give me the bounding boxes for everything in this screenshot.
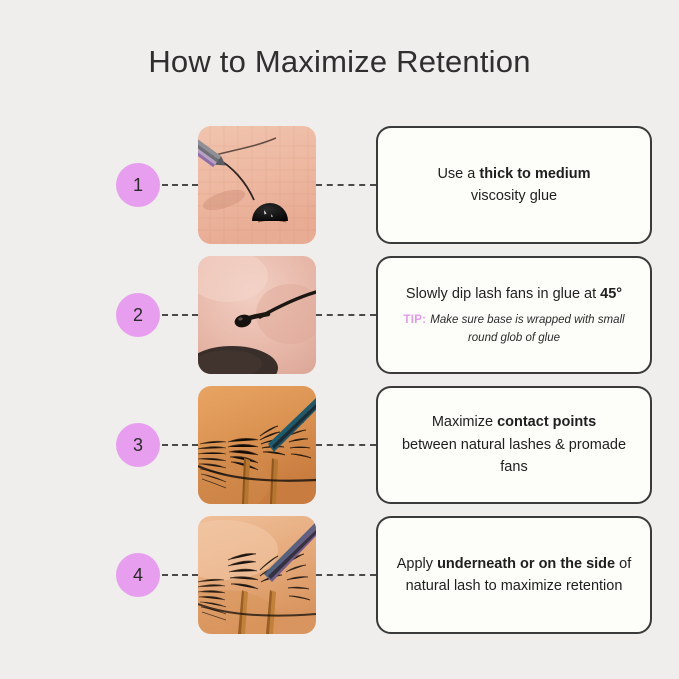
connector-dashed-right-1 bbox=[316, 184, 376, 186]
badge-cell-4: 4 bbox=[0, 516, 160, 634]
connector-dashed-left-2 bbox=[162, 314, 198, 316]
step-text-4: Apply underneath or on the side of natur… bbox=[392, 553, 636, 598]
step-row-2: 2 Slowly dip lash fans in glue at bbox=[0, 256, 679, 374]
step-image-3 bbox=[198, 386, 316, 504]
badge-cell-3: 3 bbox=[0, 386, 160, 504]
step-number-badge-2: 2 bbox=[116, 293, 160, 337]
connector-dashed-right-2 bbox=[316, 314, 376, 316]
step-text-2-bold: 45° bbox=[600, 286, 622, 302]
step-row-4: 4 bbox=[0, 516, 679, 634]
step-image-4 bbox=[198, 516, 316, 634]
connector-dashed-left-1 bbox=[162, 184, 198, 186]
step-text-3-plain-a: Maximize bbox=[432, 414, 497, 430]
tip-label-2: TIP: bbox=[403, 314, 426, 326]
step-row-1: 1 bbox=[0, 126, 679, 244]
step-textbox-2: Slowly dip lash fans in glue at 45° TIP:… bbox=[376, 256, 652, 374]
connector-dashed-left-4 bbox=[162, 574, 198, 576]
step-text-2: Slowly dip lash fans in glue at 45° bbox=[406, 283, 622, 305]
step-text-4-plain-a: Apply bbox=[397, 556, 437, 572]
step-text-1: Use a thick to medium viscosity glue bbox=[437, 163, 590, 208]
step-text-1-bold: thick to medium bbox=[479, 166, 590, 182]
step-image-1 bbox=[198, 126, 316, 244]
step-textbox-1: Use a thick to medium viscosity glue bbox=[376, 126, 652, 244]
step-number-badge-4: 4 bbox=[116, 553, 160, 597]
page-title: How to Maximize Retention bbox=[0, 44, 679, 80]
step-number-badge-1: 1 bbox=[116, 163, 160, 207]
step-text-3-plain-b: between natural lashes & promade fans bbox=[402, 437, 626, 475]
step-textbox-4: Apply underneath or on the side of natur… bbox=[376, 516, 652, 634]
connector-dashed-left-3 bbox=[162, 444, 198, 446]
step-text-1-plain-a: Use a bbox=[437, 166, 479, 182]
step-text-3: Maximize contact points between natural … bbox=[392, 411, 636, 478]
step-image-2 bbox=[198, 256, 316, 374]
step-tip-2: TIP:Make sure base is wrapped with small… bbox=[392, 312, 636, 347]
step-number-badge-3: 3 bbox=[116, 423, 160, 467]
badge-cell-1: 1 bbox=[0, 126, 160, 244]
step-text-4-bold: underneath or on the side bbox=[437, 556, 615, 572]
step-textbox-3: Maximize contact points between natural … bbox=[376, 386, 652, 504]
step-text-2-plain-a: Slowly dip lash fans in glue at bbox=[406, 286, 600, 302]
connector-dashed-right-4 bbox=[316, 574, 376, 576]
step-text-1-plain-b: viscosity glue bbox=[471, 188, 557, 204]
step-text-3-bold: contact points bbox=[497, 414, 596, 430]
step-row-3: 3 bbox=[0, 386, 679, 504]
tip-text-2: Make sure base is wrapped with small rou… bbox=[430, 314, 624, 343]
badge-cell-2: 2 bbox=[0, 256, 160, 374]
connector-dashed-right-3 bbox=[316, 444, 376, 446]
